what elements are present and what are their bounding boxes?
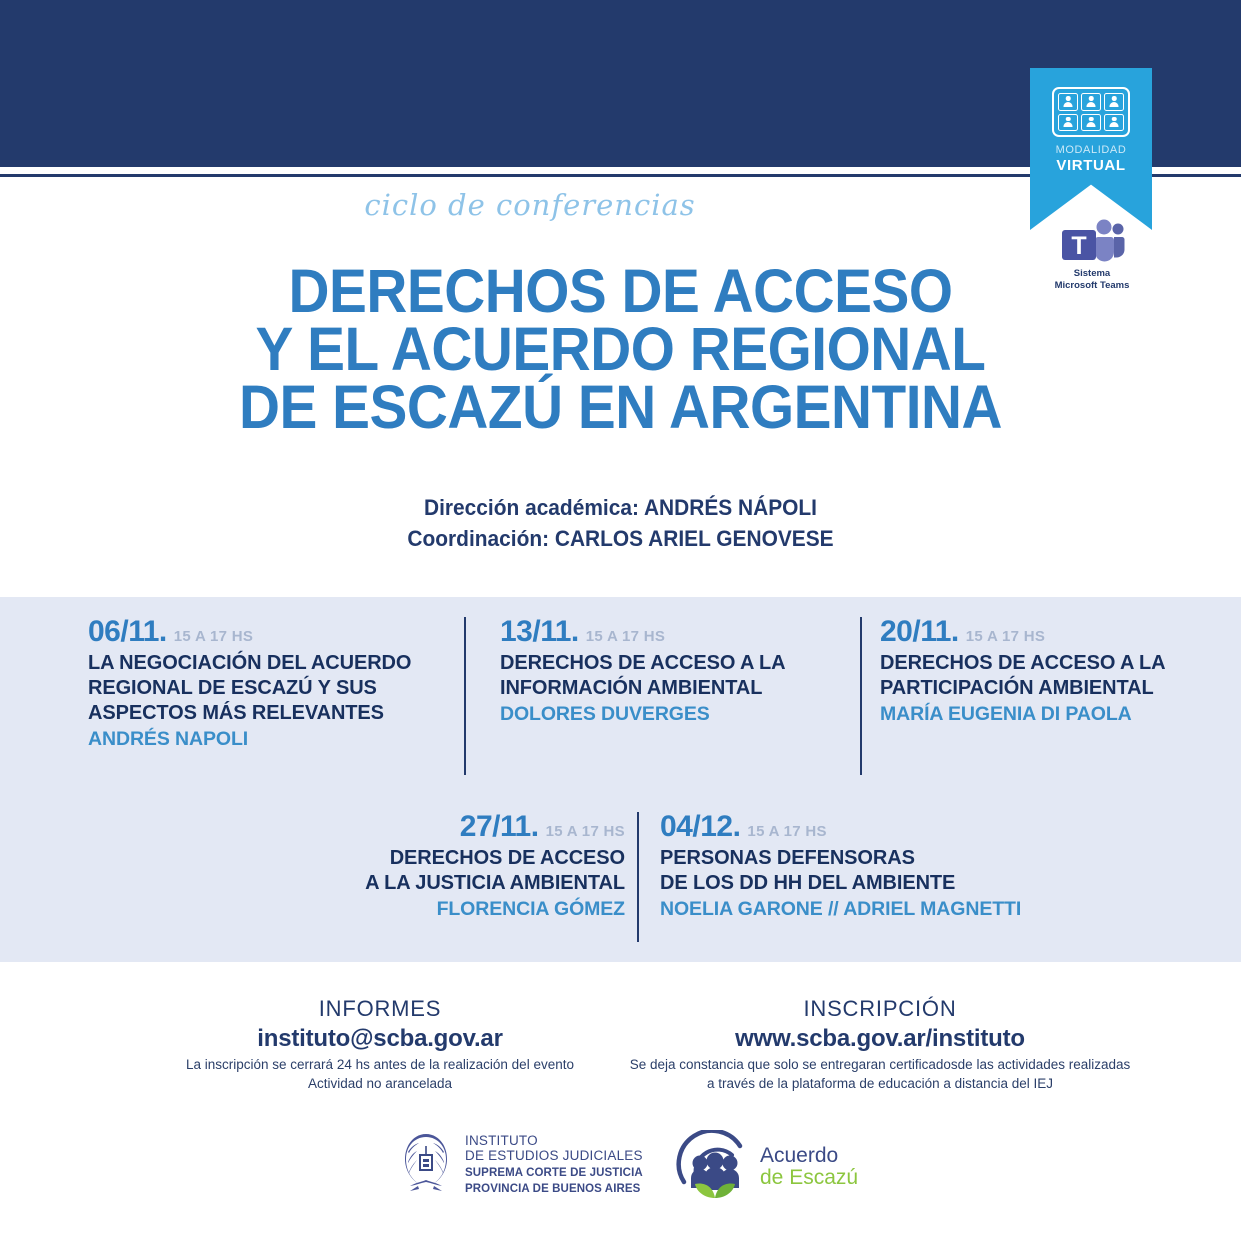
iej-line-3: SUPREMA CORTE DE JUSTICIA — [465, 1166, 643, 1180]
video-grid-cell — [1058, 93, 1078, 111]
informes-note-line2: Actividad no arancelada — [130, 1074, 630, 1093]
title-line-2: Y EL ACUERDO REGIONAL — [43, 320, 1197, 378]
schedule-item: 06/11.15 A 17 HS LA NEGOCIACIÓN DEL ACUE… — [88, 615, 458, 751]
page-title: DERECHOS DE ACCESO Y EL ACUERDO REGIONAL… — [43, 262, 1197, 436]
video-grid-cell — [1081, 93, 1101, 111]
schedule-item: 04/12.15 A 17 HS PERSONAS DEFENSORAS DE … — [660, 810, 1100, 921]
schedule-time: 15 A 17 HS — [966, 628, 1045, 645]
column-divider — [860, 617, 862, 775]
schedule-topic: DERECHOS DE ACCESO A LA INFORMACIÓN AMBI… — [500, 651, 850, 701]
inscripcion-url[interactable]: www.scba.gov.ar/instituto — [600, 1023, 1160, 1054]
schedule-speaker: FLORENCIA GÓMEZ — [325, 897, 625, 921]
schedule-topic-line: LA NEGOCIACIÓN DEL ACUERDO — [88, 651, 458, 676]
schedule-time: 15 A 17 HS — [747, 823, 826, 840]
title-line-3: DE ESCAZÚ EN ARGENTINA — [43, 378, 1197, 436]
video-grid-cell — [1081, 114, 1101, 132]
iej-logo-text: INSTITUTO DE ESTUDIOS JUDICIALES SUPREMA… — [465, 1133, 643, 1196]
schedule-date: 13/11. — [500, 615, 579, 648]
schedule-topic-line: A LA JUSTICIA AMBIENTAL — [325, 871, 625, 896]
schedule-date-line: 06/11.15 A 17 HS — [88, 615, 458, 649]
schedule-item: 13/11.15 A 17 HS DERECHOS DE ACCESO A LA… — [500, 615, 850, 726]
schedule-speaker: NOELIA GARONE // ADRIEL MAGNETTI — [660, 897, 1100, 921]
schedule-date-line: 20/11.15 A 17 HS — [880, 615, 1210, 649]
eyebrow-text: ciclo de conferencias — [0, 188, 1060, 222]
schedule-speaker: MARÍA EUGENIA DI PAOLA — [880, 702, 1210, 726]
schedule-item: 20/11.15 A 17 HS DERECHOS DE ACCESO A LA… — [880, 615, 1210, 726]
schedule-date-line: 27/11.15 A 17 HS — [325, 810, 625, 844]
video-grid-cell — [1104, 114, 1124, 132]
svg-text:T: T — [1071, 232, 1086, 260]
title-line-1: DERECHOS DE ACCESO — [43, 262, 1197, 320]
schedule-date: 06/11. — [88, 615, 167, 648]
schedule-topic-line: REGIONAL DE ESCAZÚ Y SUS — [88, 676, 458, 701]
laurel-crest-icon — [398, 1128, 454, 1200]
column-divider — [464, 617, 466, 775]
schedule-topic: PERSONAS DEFENSORAS DE LOS DD HH DEL AMB… — [660, 846, 1100, 896]
schedule-topic-line: DERECHOS DE ACCESO — [325, 846, 625, 871]
schedule-date-line: 04/12.15 A 17 HS — [660, 810, 1100, 844]
schedule-time: 15 A 17 HS — [586, 628, 665, 645]
informes-note-line1: La inscripción se cerrará 24 hs antes de… — [130, 1055, 630, 1074]
credits-block: Dirección académica: ANDRÉS NÁPOLI Coord… — [31, 492, 1210, 554]
inscripcion-note-line1: Se deja constancia que solo se entregara… — [600, 1055, 1160, 1074]
video-grid-cell — [1104, 93, 1124, 111]
escazu-line-2: de Escazú — [760, 1167, 858, 1189]
credit-academic-direction: Dirección académica: ANDRÉS NÁPOLI — [31, 492, 1210, 523]
microsoft-teams-icon: T — [1040, 218, 1144, 264]
schedule-topic-line: DE LOS DD HH DEL AMBIENTE — [660, 871, 1100, 896]
schedule-topic-line: DERECHOS DE ACCESO A LA — [500, 651, 850, 676]
inscripcion-heading: INSCRIPCIÓN — [600, 995, 1160, 1023]
inscripcion-note-line2: a través de la plataforma de educación a… — [600, 1074, 1160, 1093]
credit-coordination: Coordinación: CARLOS ARIEL GENOVESE — [31, 523, 1210, 554]
iej-line-1: INSTITUTO — [465, 1133, 643, 1149]
video-grid-icon — [1052, 87, 1130, 137]
schedule-time: 15 A 17 HS — [174, 628, 253, 645]
schedule-topic-line: PERSONAS DEFENSORAS — [660, 846, 1100, 871]
schedule-item: 27/11.15 A 17 HS DERECHOS DE ACCESO A LA… — [325, 810, 625, 921]
logo-row: INSTITUTO DE ESTUDIOS JUDICIALES SUPREMA… — [0, 1124, 1241, 1219]
informes-block: INFORMES instituto@scba.gov.ar La inscri… — [130, 995, 630, 1093]
informes-email[interactable]: instituto@scba.gov.ar — [130, 1023, 630, 1054]
schedule-list: 06/11.15 A 17 HS LA NEGOCIACIÓN DEL ACUE… — [0, 597, 1241, 962]
schedule-topic-line: DERECHOS DE ACCESO A LA — [880, 651, 1210, 676]
iej-line-2: DE ESTUDIOS JUDICIALES — [465, 1148, 643, 1164]
schedule-topic-line: INFORMACIÓN AMBIENTAL — [500, 676, 850, 701]
ribbon-modalidad-label: MODALIDAD — [1030, 144, 1152, 156]
schedule-time: 15 A 17 HS — [546, 823, 625, 840]
schedule-speaker: ANDRÉS NAPOLI — [88, 727, 458, 751]
schedule-topic: DERECHOS DE ACCESO A LA JUSTICIA AMBIENT… — [325, 846, 625, 896]
escazu-logo-text: Acuerdo de Escazú — [760, 1145, 858, 1189]
schedule-speaker: DOLORES DUVERGES — [500, 702, 850, 726]
schedule-date: 27/11. — [460, 810, 539, 843]
iej-logo: INSTITUTO DE ESTUDIOS JUDICIALES SUPREMA… — [398, 1128, 643, 1200]
informes-note: La inscripción se cerrará 24 hs antes de… — [130, 1055, 630, 1093]
schedule-date: 04/12. — [660, 810, 740, 843]
informes-heading: INFORMES — [130, 995, 630, 1023]
people-leaves-circle-icon — [676, 1130, 754, 1204]
escazu-line-1: Acuerdo — [760, 1145, 858, 1167]
inscripcion-block: INSCRIPCIÓN www.scba.gov.ar/instituto Se… — [600, 995, 1160, 1093]
column-divider — [637, 812, 639, 942]
video-grid-cell — [1058, 114, 1078, 132]
schedule-topic-line: PARTICIPACIÓN AMBIENTAL — [880, 676, 1210, 701]
inscripcion-note: Se deja constancia que solo se entregara… — [600, 1055, 1160, 1093]
schedule-date-line: 13/11.15 A 17 HS — [500, 615, 850, 649]
schedule-topic-line: ASPECTOS MÁS RELEVANTES — [88, 701, 458, 726]
schedule-topic: LA NEGOCIACIÓN DEL ACUERDO REGIONAL DE E… — [88, 651, 458, 726]
schedule-topic: DERECHOS DE ACCESO A LA PARTICIPACIÓN AM… — [880, 651, 1210, 701]
ribbon-virtual-label: VIRTUAL — [1030, 157, 1152, 174]
escazu-logo: Acuerdo de Escazú — [676, 1130, 858, 1204]
schedule-date: 20/11. — [880, 615, 959, 648]
iej-line-4: PROVINCIA DE BUENOS AIRES — [465, 1182, 643, 1196]
